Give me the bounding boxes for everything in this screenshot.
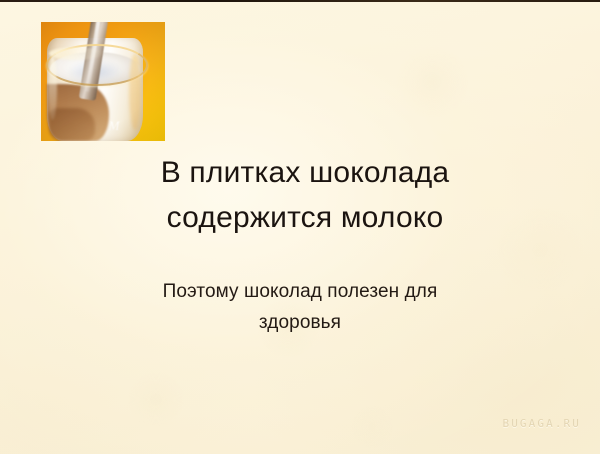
subtitle-line-2: здоровья xyxy=(80,307,520,338)
photo-vignette xyxy=(41,22,165,141)
subtitle-line-1: Поэтому шоколад полезен для xyxy=(80,276,520,307)
watermark: BUGAGA.RU xyxy=(502,417,581,430)
top-border-rule xyxy=(0,0,600,2)
title-line-2: содержится молоко xyxy=(90,195,520,240)
slide-canvas: M В плитках шоколада содержится молоко П… xyxy=(0,0,600,454)
slide-title: В плитках шоколада содержится молоко xyxy=(90,150,520,240)
chocolate-milk-photo: M xyxy=(41,22,165,141)
slide-subtitle: Поэтому шоколад полезен для здоровья xyxy=(80,276,520,338)
title-line-1: В плитках шоколада xyxy=(90,150,520,195)
